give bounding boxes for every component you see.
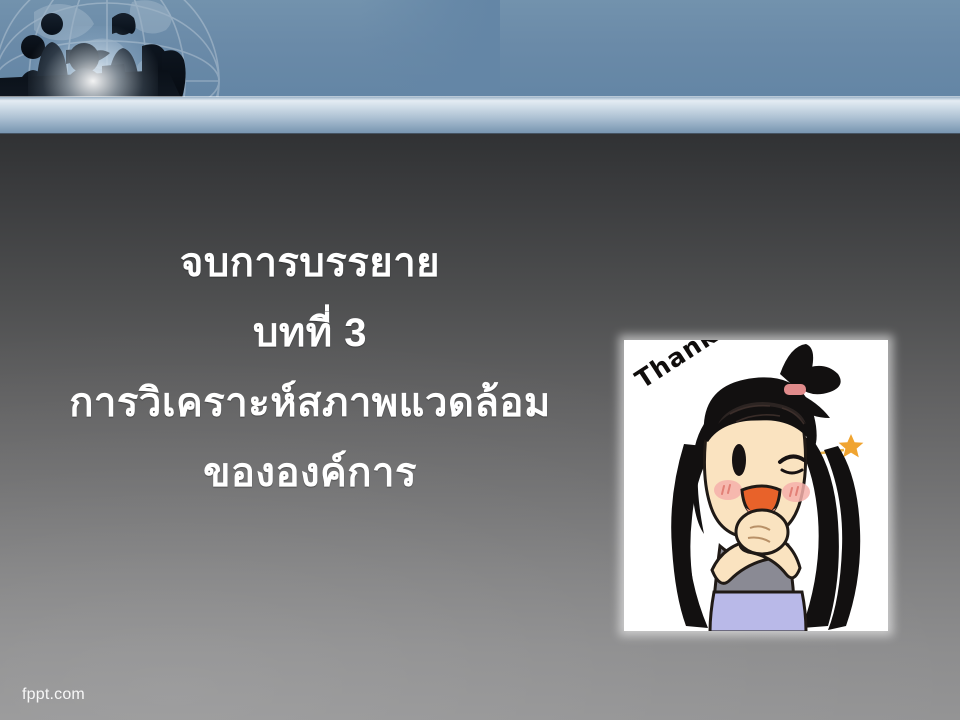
- thank-you-image: Thank You: [624, 340, 888, 631]
- left-eye: [732, 444, 746, 476]
- chibi-girl-illustration: [624, 340, 888, 631]
- banner-horizon-strip: [0, 97, 960, 134]
- presentation-slide: จบการบรรยาย บทที่ 3 การวิเคราะห์สภาพแวดล…: [0, 0, 960, 720]
- title-line-1: จบการบรรยาย: [0, 228, 620, 298]
- watermark-label: fppt.com: [22, 686, 85, 704]
- title-line-3: การวิเคราะห์สภาพแวดล้อม: [0, 368, 620, 438]
- title-line-2: บทที่ 3: [0, 298, 620, 368]
- header-banner: [0, 0, 960, 134]
- slide-title-block: จบการบรรยาย บทที่ 3 การวิเคราะห์สภาพแวดล…: [0, 228, 620, 508]
- thank-you-illustration: Thank You: [624, 340, 888, 631]
- skirt: [710, 592, 806, 631]
- title-line-4: ขององค์การ: [0, 438, 620, 508]
- hands: [736, 510, 788, 554]
